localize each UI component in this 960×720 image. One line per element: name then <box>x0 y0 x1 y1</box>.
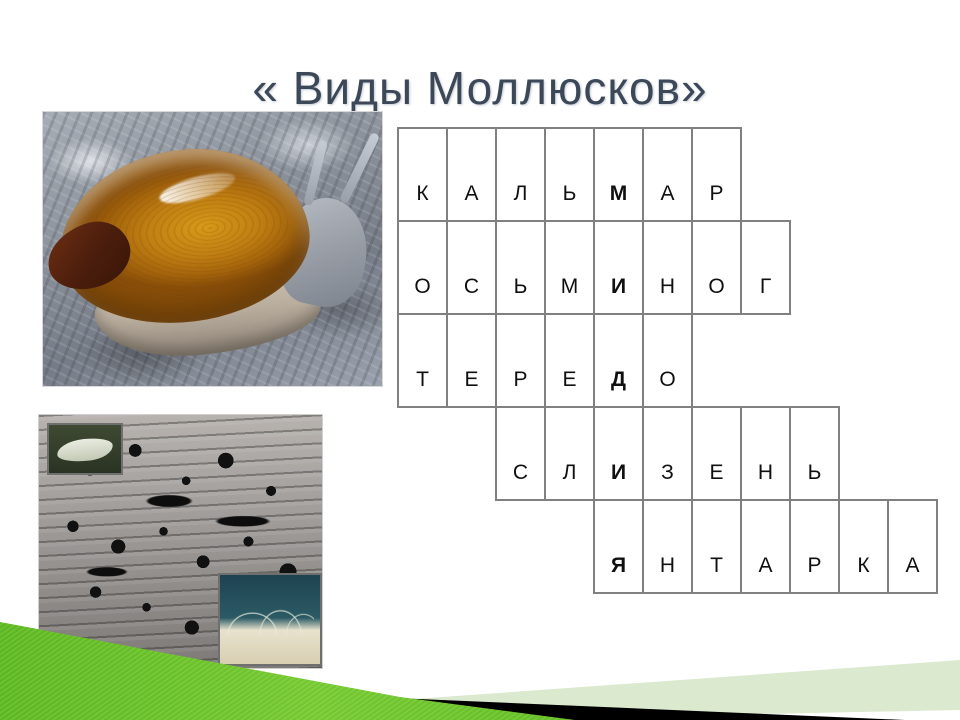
crossword-cell[interactable]: О <box>691 220 742 315</box>
crossword-cell[interactable]: М <box>544 220 595 315</box>
crossword-cell[interactable]: Ь <box>789 406 840 501</box>
crossword-cell[interactable]: Ь <box>495 220 546 315</box>
crossword-cell[interactable]: Н <box>740 406 791 501</box>
crossword-cell[interactable]: Н <box>642 499 693 594</box>
crossword-cell[interactable]: А <box>887 499 938 594</box>
crossword-row: СЛИЗЕНЬ <box>495 406 938 501</box>
page-title: « Виды Моллюсков» <box>0 61 960 115</box>
deco-pale-green-stripe <box>400 660 960 720</box>
teredo-photo <box>38 414 323 669</box>
crossword-cell[interactable]: Р <box>495 313 546 408</box>
crossword-cell[interactable]: Т <box>691 499 742 594</box>
crossword-cell[interactable]: Д <box>593 313 644 408</box>
crossword-cell[interactable]: Н <box>642 220 693 315</box>
crossword-cell[interactable]: М <box>593 127 644 222</box>
crossword-cell[interactable]: К <box>397 127 448 222</box>
crossword-grid: КАЛЬМАРОСЬМИНОГТЕРЕДОСЛИЗЕНЬЯНТАРКА <box>397 127 938 594</box>
crossword-cell[interactable]: Л <box>495 127 546 222</box>
crossword-cell[interactable]: С <box>446 220 497 315</box>
crossword-cell[interactable]: И <box>593 406 644 501</box>
crossword-cell[interactable]: Л <box>544 406 595 501</box>
crossword-row: ТЕРЕДО <box>397 313 938 408</box>
crossword-cell[interactable]: А <box>642 127 693 222</box>
crossword-row: КАЛЬМАР <box>397 127 938 222</box>
crossword-cell[interactable]: А <box>446 127 497 222</box>
crossword-cell[interactable]: Т <box>397 313 448 408</box>
crossword-row: ЯНТАРКА <box>593 499 938 594</box>
crossword-cell[interactable]: Е <box>544 313 595 408</box>
slide: « Виды Моллюсков» КАЛЬМАРОСЬМИНОГТЕРЕДОС… <box>0 0 960 720</box>
crossword-cell[interactable]: Е <box>691 406 742 501</box>
crossword-row: ОСЬМИНОГ <box>397 220 938 315</box>
deco-black-stripe <box>380 698 905 720</box>
teredo-siphon-inset <box>218 573 322 666</box>
crossword-cell[interactable]: О <box>397 220 448 315</box>
crossword-cell[interactable]: И <box>593 220 644 315</box>
crossword-cell[interactable]: К <box>838 499 889 594</box>
crossword-cell[interactable]: Ь <box>544 127 595 222</box>
crossword-cell[interactable]: Р <box>691 127 742 222</box>
crossword-cell[interactable]: З <box>642 406 693 501</box>
crossword-cell[interactable]: А <box>740 499 791 594</box>
snail-photo <box>42 111 383 387</box>
crossword-cell[interactable]: Г <box>740 220 791 315</box>
crossword-cell[interactable]: О <box>642 313 693 408</box>
crossword-cell[interactable]: Я <box>593 499 644 594</box>
crossword-cell[interactable]: Е <box>446 313 497 408</box>
crossword-cell[interactable]: С <box>495 406 546 501</box>
crossword-cell[interactable]: Р <box>789 499 840 594</box>
teredo-larva-inset <box>47 423 123 475</box>
